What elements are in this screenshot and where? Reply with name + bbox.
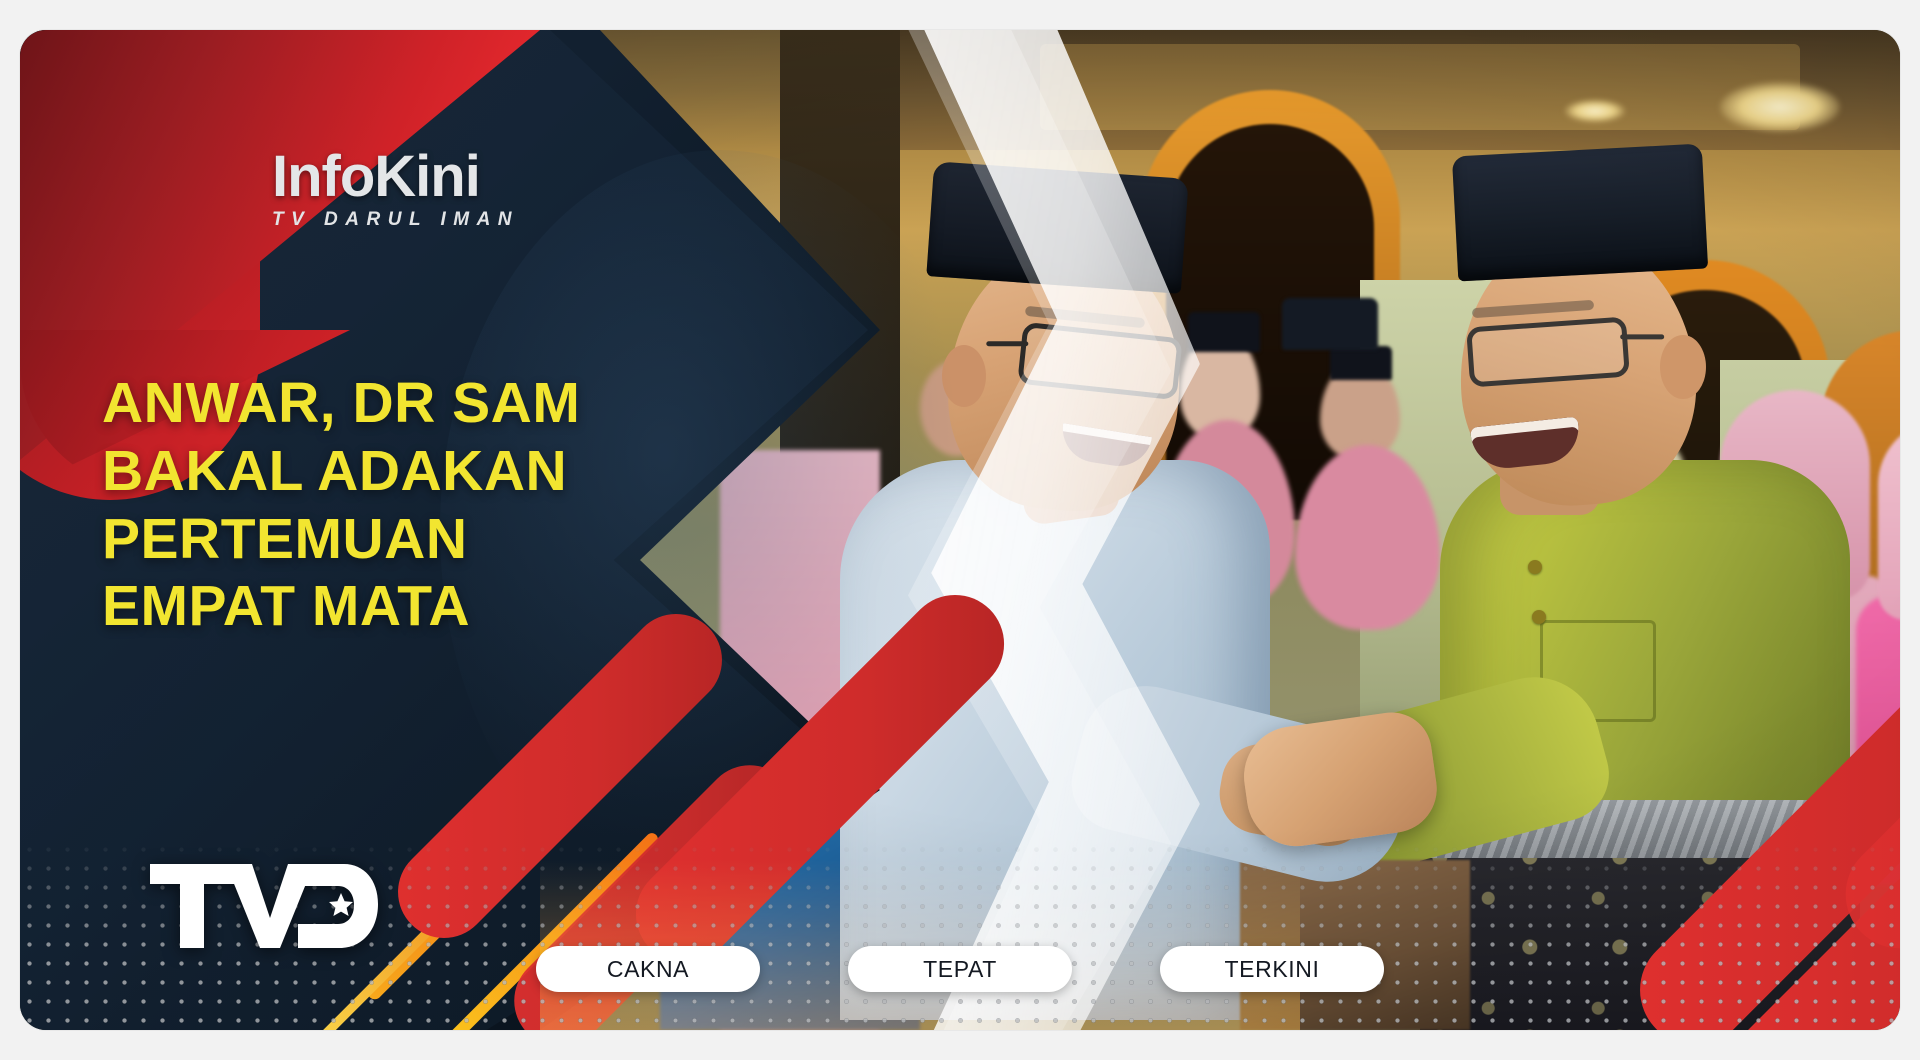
news-thumbnail-card: InfoKini TV DARUL IMAN ANWAR, DR SAM BAK… (20, 30, 1900, 1030)
brand-tagline: TV DARUL IMAN (272, 210, 519, 229)
brand-name: InfoKini (272, 148, 519, 206)
headline-line-4: EMPAT MATA (102, 573, 762, 641)
badge-tepat[interactable]: TEPAT (848, 946, 1072, 992)
channel-logo (148, 860, 380, 952)
page-background: InfoKini TV DARUL IMAN ANWAR, DR SAM BAK… (0, 0, 1920, 1060)
badge-terkini[interactable]: TERKINI (1160, 946, 1384, 992)
brand-logo: InfoKini TV DARUL IMAN (272, 148, 519, 229)
tvdi-logo-icon (148, 860, 380, 952)
headline-line-3: PERTEMUAN (102, 506, 762, 574)
badge-cakna[interactable]: CAKNA (536, 946, 760, 992)
headline-block: ANWAR, DR SAM BAKAL ADAKAN PERTEMUAN EMP… (102, 370, 762, 641)
headline-line-2: BAKAL ADAKAN (102, 438, 762, 506)
badge-row: CAKNA TEPAT TERKINI (20, 946, 1900, 992)
headline-line-1: ANWAR, DR SAM (102, 370, 762, 438)
